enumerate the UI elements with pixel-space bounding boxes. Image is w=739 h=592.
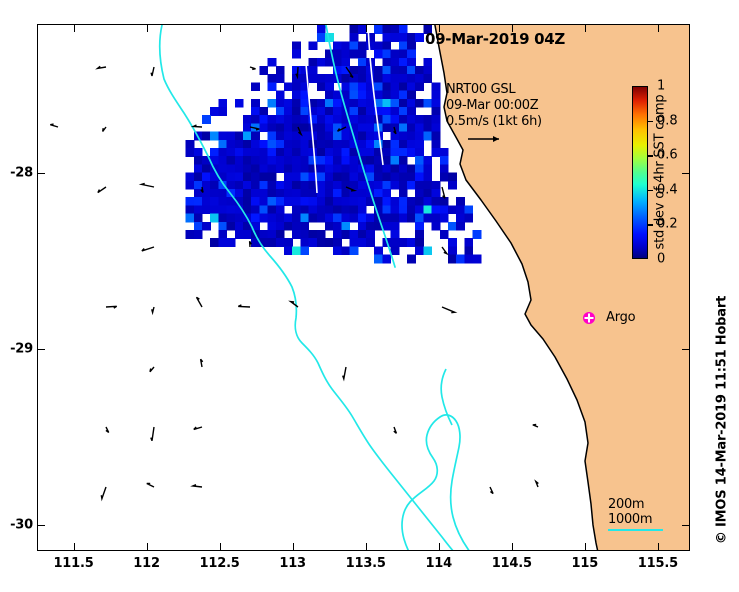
sst-cell — [358, 107, 367, 116]
sst-cell — [341, 246, 350, 255]
sst-cell — [366, 156, 375, 165]
sst-cell — [333, 246, 342, 255]
sst-cell — [268, 173, 277, 182]
sst-cell — [325, 82, 334, 91]
sst-cell — [276, 115, 285, 124]
sst-cell — [374, 41, 383, 50]
sst-cell — [456, 205, 465, 214]
sst-cell — [300, 230, 309, 239]
sst-cell — [276, 181, 285, 190]
x-tick-bottom — [439, 543, 440, 550]
sst-cell — [210, 214, 219, 223]
sst-cell — [399, 238, 408, 247]
sst-cell — [350, 115, 359, 124]
sst-cell — [440, 205, 449, 214]
sst-cell — [259, 66, 268, 75]
sst-cell — [325, 222, 334, 231]
sst-cell — [194, 156, 203, 165]
sst-cell — [382, 189, 391, 198]
sst-cell — [276, 66, 285, 75]
sst-cell — [423, 156, 432, 165]
sst-cell — [382, 173, 391, 182]
sst-cell — [300, 246, 309, 255]
sst-cell — [292, 214, 301, 223]
sst-cell — [218, 230, 227, 239]
sst-cell — [243, 189, 252, 198]
sst-cell — [186, 230, 195, 239]
sst-cell — [251, 140, 260, 149]
sst-cell — [317, 238, 326, 247]
sst-cell — [300, 156, 309, 165]
sst-cell — [366, 164, 375, 173]
x-tick-top — [585, 25, 586, 32]
sst-cell — [382, 107, 391, 116]
sst-cell — [317, 181, 326, 190]
sst-cell — [284, 197, 293, 206]
sst-cell — [391, 66, 400, 75]
sst-cell — [317, 123, 326, 132]
sst-cell — [292, 173, 301, 182]
sst-cell — [432, 197, 441, 206]
sst-cell — [317, 82, 326, 91]
sst-cell — [366, 41, 375, 50]
sst-cell — [333, 107, 342, 116]
depth-legend-200m: 200m — [608, 497, 652, 512]
sst-cell — [218, 132, 227, 141]
depth-legend-contour-swatch — [608, 529, 663, 531]
sst-cell — [325, 74, 334, 83]
sst-cell — [350, 41, 359, 50]
sst-cell — [399, 99, 408, 108]
sst-cell — [276, 99, 285, 108]
sst-cell — [374, 50, 383, 59]
sst-cell — [440, 230, 449, 239]
x-tick-label: 112.5 — [200, 556, 240, 571]
sst-cell — [300, 222, 309, 231]
sst-cell — [358, 197, 367, 206]
sst-cell — [194, 148, 203, 157]
sst-cell — [235, 140, 244, 149]
sst-cell — [218, 156, 227, 165]
sst-cell — [333, 156, 342, 165]
sst-cell — [399, 156, 408, 165]
sst-cell — [415, 148, 424, 157]
sst-cell — [317, 132, 326, 141]
sst-cell — [292, 41, 301, 50]
sst-cell — [251, 164, 260, 173]
sst-cell — [341, 189, 350, 198]
sst-cell — [415, 115, 424, 124]
sst-cell — [358, 214, 367, 223]
sst-cell — [227, 132, 236, 141]
sst-cell — [309, 58, 318, 67]
sst-cell — [284, 99, 293, 108]
sst-cell — [317, 148, 326, 157]
map-canvas — [38, 25, 689, 550]
sst-cell — [218, 99, 227, 108]
sst-cell — [464, 238, 473, 247]
sst-cell — [391, 181, 400, 190]
sst-cell — [317, 74, 326, 83]
y-tick-right — [682, 349, 689, 350]
x-tick-bottom — [220, 543, 221, 550]
sst-cell — [276, 222, 285, 231]
sst-cell — [259, 123, 268, 132]
sst-cell — [374, 74, 383, 83]
sst-cell — [399, 107, 408, 116]
sst-cell — [300, 132, 309, 141]
sst-cell — [432, 107, 441, 116]
sst-cell — [276, 205, 285, 214]
sst-cell — [284, 115, 293, 124]
sst-cell — [317, 156, 326, 165]
sst-cell — [366, 33, 375, 42]
sst-cell — [300, 189, 309, 198]
sst-cell — [415, 214, 424, 223]
sst-cell — [268, 99, 277, 108]
sst-cell — [243, 164, 252, 173]
sst-cell — [259, 115, 268, 124]
sst-cell — [268, 238, 277, 247]
sst-cell — [317, 99, 326, 108]
sst-cell — [292, 140, 301, 149]
sst-cell — [374, 189, 383, 198]
sst-cell — [448, 238, 457, 247]
sst-cell — [210, 197, 219, 206]
sst-cell — [382, 41, 391, 50]
sst-cell — [317, 205, 326, 214]
sst-cell — [243, 173, 252, 182]
x-tick-label: 115.5 — [638, 556, 678, 571]
sst-cell — [399, 148, 408, 157]
sst-cell — [464, 246, 473, 255]
sst-cell — [276, 197, 285, 206]
sst-cell — [259, 148, 268, 157]
sst-cell — [448, 181, 457, 190]
sst-cell — [407, 91, 416, 100]
sst-cell — [391, 33, 400, 42]
sst-cell — [202, 132, 211, 141]
sst-cell — [227, 238, 236, 247]
sst-cell — [407, 255, 416, 264]
sst-cell — [399, 115, 408, 124]
sst-cell — [423, 197, 432, 206]
sst-cell — [374, 246, 383, 255]
sst-cell — [391, 74, 400, 83]
sst-cell — [251, 173, 260, 182]
sst-cell — [341, 140, 350, 149]
sst-cell — [350, 25, 359, 34]
sst-cell — [325, 123, 334, 132]
sst-cell — [292, 230, 301, 239]
sst-cell — [284, 140, 293, 149]
sst-cell — [440, 148, 449, 157]
sst-cell — [407, 33, 416, 42]
sst-cell — [227, 140, 236, 149]
sst-cell — [341, 222, 350, 231]
sst-cell — [218, 164, 227, 173]
sst-cell — [202, 205, 211, 214]
sst-cell — [251, 132, 260, 141]
sst-cell — [391, 230, 400, 239]
sst-cell — [374, 82, 383, 91]
timestamp-title: 09-Mar-2019 04Z — [425, 30, 565, 48]
sst-cell — [374, 164, 383, 173]
x-tick-label: 115 — [572, 556, 599, 571]
sst-cell — [456, 255, 465, 264]
sst-cell — [358, 238, 367, 247]
sst-cell — [407, 50, 416, 59]
sst-cell — [243, 115, 252, 124]
sst-cell — [432, 140, 441, 149]
sst-cell — [350, 50, 359, 59]
sst-cell — [358, 132, 367, 141]
x-tick-label: 112 — [133, 556, 160, 571]
sst-cell — [366, 140, 375, 149]
sst-cell — [292, 148, 301, 157]
sst-cell — [276, 238, 285, 247]
sst-cell — [259, 181, 268, 190]
sst-cell — [227, 173, 236, 182]
sst-cell — [366, 107, 375, 116]
colorbar-tick-label: 0 — [657, 252, 665, 267]
sst-cell — [243, 140, 252, 149]
sst-cell — [341, 50, 350, 59]
sst-cell — [415, 238, 424, 247]
sst-cell — [309, 205, 318, 214]
sst-cell — [423, 74, 432, 83]
sst-cell — [415, 33, 424, 42]
sst-cell — [358, 140, 367, 149]
sst-cell — [309, 156, 318, 165]
sst-cell — [210, 132, 219, 141]
x-tick-bottom — [147, 543, 148, 550]
sst-cell — [325, 132, 334, 141]
sst-cell — [399, 164, 408, 173]
sst-cell — [432, 181, 441, 190]
sst-cell — [292, 66, 301, 75]
sst-cell — [407, 197, 416, 206]
sst-cell — [325, 156, 334, 165]
sst-cell — [276, 91, 285, 100]
sst-cell — [292, 115, 301, 124]
sst-cell — [432, 123, 441, 132]
sst-cell — [333, 140, 342, 149]
sst-cell — [382, 50, 391, 59]
sst-cell — [423, 66, 432, 75]
sst-cell — [399, 58, 408, 67]
sst-cell — [382, 74, 391, 83]
x-tick-top — [366, 25, 367, 32]
sst-cell — [382, 91, 391, 100]
sst-cell — [317, 107, 326, 116]
sst-cell — [259, 164, 268, 173]
sst-cell — [292, 91, 301, 100]
depth-legend-1000m: 1000m — [608, 512, 652, 527]
sst-cell — [268, 74, 277, 83]
sst-cell — [399, 33, 408, 42]
sst-cell — [382, 33, 391, 42]
sst-cell — [276, 107, 285, 116]
vector-scale-arrow-icon — [466, 133, 506, 145]
sst-cell — [218, 148, 227, 157]
sst-cell — [251, 189, 260, 198]
sst-cell — [473, 255, 482, 264]
sst-cell — [251, 156, 260, 165]
x-tick-label: 111.5 — [53, 556, 93, 571]
sst-cell — [341, 58, 350, 67]
sst-cell — [407, 173, 416, 182]
sst-cell — [186, 148, 195, 157]
sst-cell — [284, 181, 293, 190]
sst-cell — [218, 140, 227, 149]
sst-cell — [341, 230, 350, 239]
sst-cell — [382, 164, 391, 173]
sst-cell — [399, 140, 408, 149]
sst-cell — [268, 123, 277, 132]
sst-cell — [317, 25, 326, 34]
sst-cell — [259, 230, 268, 239]
sst-cell — [415, 132, 424, 141]
sst-cell — [350, 238, 359, 247]
y-tick-label: -30 — [10, 517, 33, 532]
sst-cell — [350, 197, 359, 206]
sst-cell — [300, 238, 309, 247]
sst-cell — [399, 25, 408, 34]
sst-cell — [218, 205, 227, 214]
sst-cell — [194, 181, 203, 190]
sst-cell — [268, 205, 277, 214]
sst-cell — [391, 246, 400, 255]
x-tick-top — [293, 25, 294, 32]
sst-cell — [407, 148, 416, 157]
sst-cell — [235, 214, 244, 223]
sst-cell — [309, 74, 318, 83]
sst-cell — [440, 173, 449, 182]
sst-cell — [415, 197, 424, 206]
sst-cell — [399, 173, 408, 182]
sst-cell — [374, 181, 383, 190]
sst-cell — [374, 25, 383, 34]
sst-cell — [251, 115, 260, 124]
sst-cell — [235, 156, 244, 165]
sst-cell — [333, 230, 342, 239]
sst-cell — [358, 181, 367, 190]
sst-cell — [325, 189, 334, 198]
colorbar-tick-label: 1 — [657, 79, 665, 94]
sst-cell — [341, 197, 350, 206]
sst-cell — [292, 99, 301, 108]
sst-cell — [235, 164, 244, 173]
sst-cell — [194, 197, 203, 206]
sst-cell — [350, 99, 359, 108]
sst-cell — [325, 140, 334, 149]
sst-cell — [473, 230, 482, 239]
x-tick-bottom — [585, 543, 586, 550]
sst-cell — [292, 50, 301, 59]
sst-cell — [276, 156, 285, 165]
sst-cell — [382, 115, 391, 124]
sst-cell — [194, 164, 203, 173]
sst-cell — [399, 132, 408, 141]
sst-cell — [333, 189, 342, 198]
sst-cell — [415, 74, 424, 83]
sst-cell — [218, 189, 227, 198]
sst-cell — [276, 230, 285, 239]
sst-cell — [374, 197, 383, 206]
sst-cell — [284, 173, 293, 182]
sst-cell — [382, 140, 391, 149]
sst-cell — [415, 66, 424, 75]
sst-cell — [268, 115, 277, 124]
sst-cell — [391, 205, 400, 214]
sst-cell — [407, 181, 416, 190]
sst-cell — [227, 214, 236, 223]
sst-cell — [251, 214, 260, 223]
sst-cell — [210, 107, 219, 116]
sst-cell — [276, 123, 285, 132]
vector-scale-legend: NRT00 GSL 09-Mar 00:00Z 0.5m/s (1kt 6h) — [446, 82, 542, 130]
sst-cell — [358, 230, 367, 239]
sst-cell — [366, 238, 375, 247]
sst-cell — [317, 140, 326, 149]
sst-cell — [432, 148, 441, 157]
sst-cell — [423, 115, 432, 124]
sst-cell — [300, 205, 309, 214]
sst-cell — [382, 82, 391, 91]
sst-cell — [374, 140, 383, 149]
sst-cell — [325, 107, 334, 116]
sst-cell — [300, 115, 309, 124]
sst-cell — [292, 246, 301, 255]
sst-cell — [292, 82, 301, 91]
sst-cell — [251, 82, 260, 91]
sst-cell — [358, 189, 367, 198]
sst-cell — [341, 74, 350, 83]
sst-cell — [464, 214, 473, 223]
sst-cell — [366, 222, 375, 231]
sst-cell — [325, 164, 334, 173]
sst-cell — [407, 66, 416, 75]
sst-cell — [284, 164, 293, 173]
sst-cell — [292, 107, 301, 116]
sst-cell — [374, 255, 383, 264]
sst-cell — [227, 181, 236, 190]
sst-cell — [407, 58, 416, 67]
sst-cell — [210, 205, 219, 214]
sst-cell — [350, 230, 359, 239]
sst-cell — [251, 107, 260, 116]
sst-cell — [423, 181, 432, 190]
sst-cell — [382, 214, 391, 223]
x-tick-top — [220, 25, 221, 32]
sst-cell — [333, 205, 342, 214]
sst-cell — [235, 189, 244, 198]
sst-cell — [382, 148, 391, 157]
sst-cell — [317, 230, 326, 239]
argo-marker-icon — [582, 311, 596, 325]
sst-cell — [440, 214, 449, 223]
sst-cell — [415, 173, 424, 182]
sst-cell — [284, 189, 293, 198]
sst-cell — [194, 205, 203, 214]
map-plot-area — [37, 24, 690, 551]
sst-cell — [292, 181, 301, 190]
sst-cell — [227, 164, 236, 173]
sst-cell — [300, 123, 309, 132]
sst-cell — [415, 230, 424, 239]
sst-cell — [276, 132, 285, 141]
